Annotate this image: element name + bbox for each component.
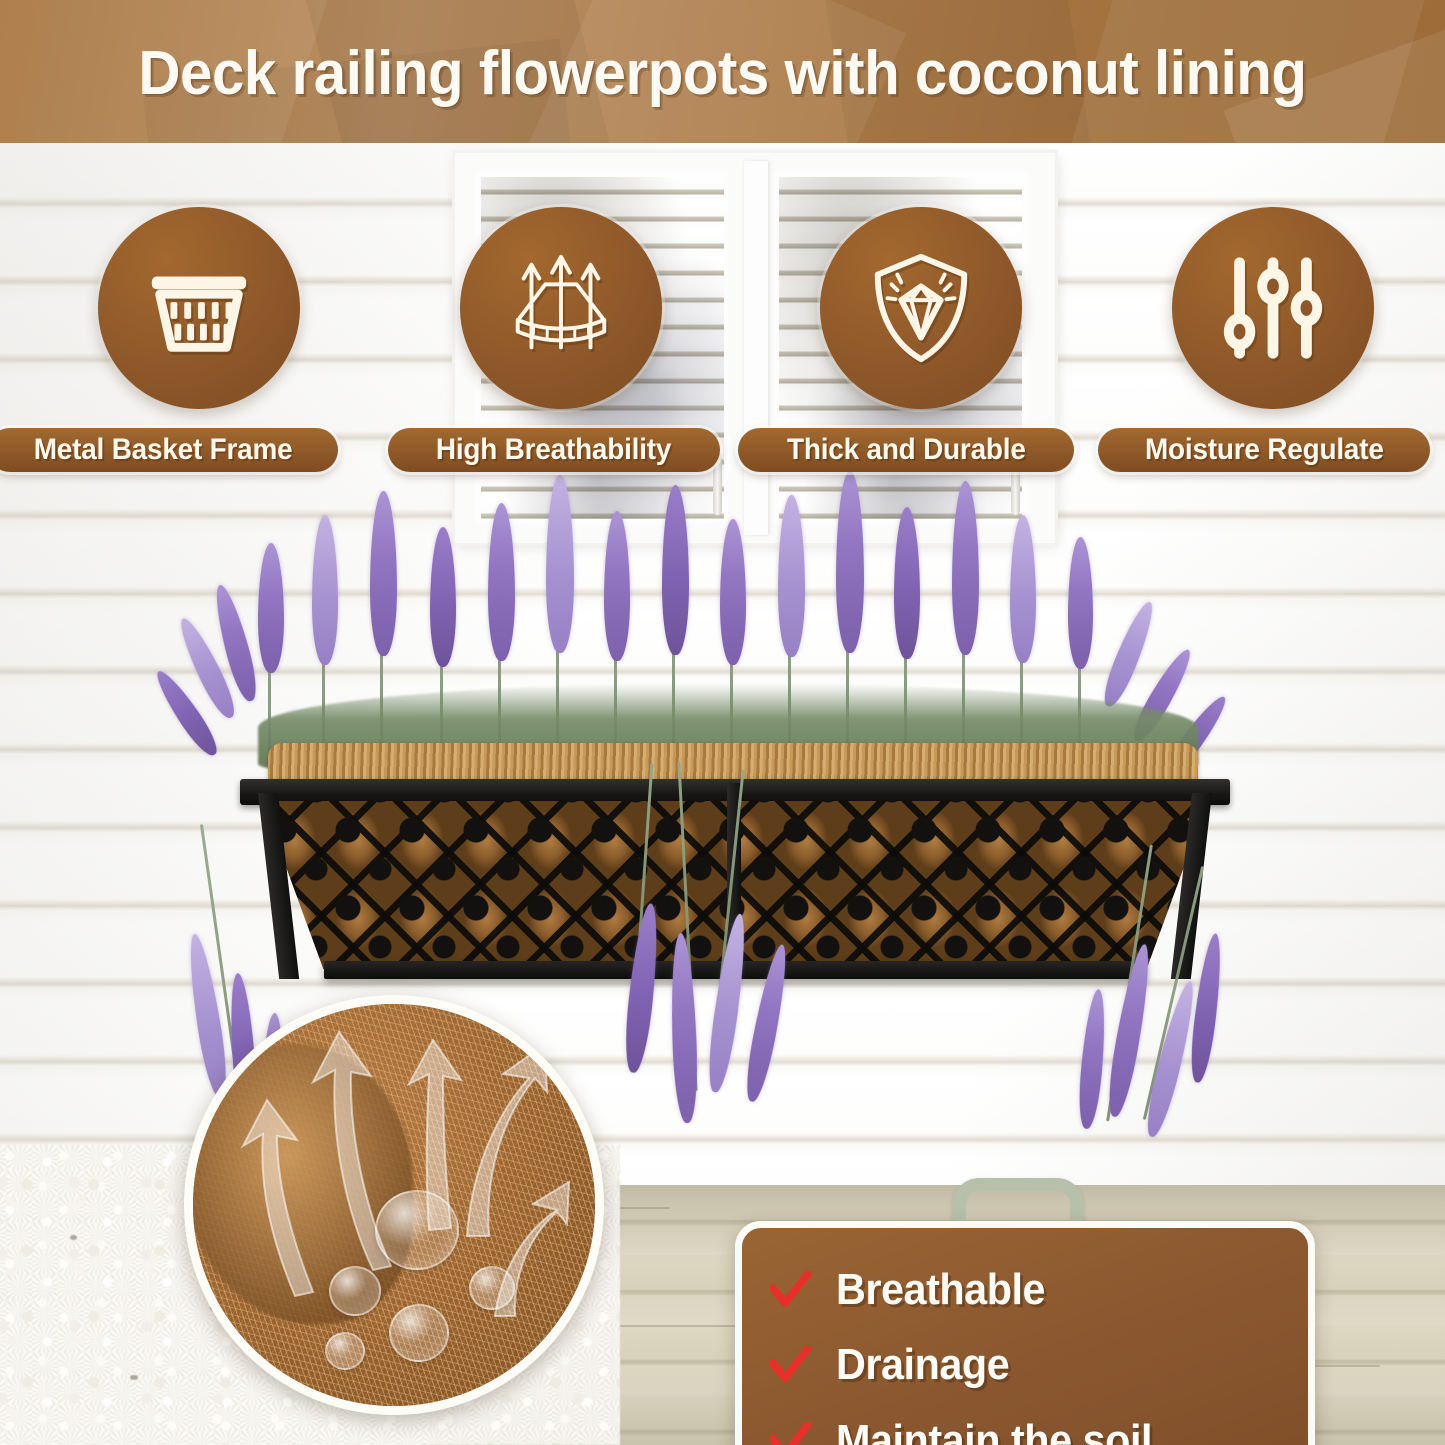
feature-label: Moisture Regulate xyxy=(1145,433,1384,467)
gravel-speck xyxy=(70,1235,77,1240)
deck-railing-planter xyxy=(240,743,1230,973)
feature-label: Metal Basket Frame xyxy=(34,433,293,467)
check-icon xyxy=(770,1271,811,1309)
planter-center-divider xyxy=(727,783,741,975)
water-droplet xyxy=(389,1304,449,1362)
water-droplet xyxy=(469,1266,515,1310)
feature-label: High Breathability xyxy=(436,433,671,467)
page-title: Deck railing flowerpots with coconut lin… xyxy=(43,0,1401,143)
gravel-speck xyxy=(130,1375,138,1380)
feature-badge-circle xyxy=(820,207,1022,409)
water-droplet xyxy=(329,1266,381,1316)
benefit-item: Drainage xyxy=(770,1340,1288,1390)
check-icon xyxy=(770,1346,811,1384)
benefit-label: Drainage xyxy=(836,1340,1009,1390)
check-icon xyxy=(770,1422,811,1445)
breathability-arrows-icon xyxy=(502,249,620,367)
feature-label-pill: Moisture Regulate xyxy=(1098,428,1430,472)
benefits-card: Breathable Drainage Maintain the soil xyxy=(735,1221,1315,1445)
water-droplet xyxy=(325,1332,365,1370)
benefit-label: Breathable xyxy=(836,1265,1045,1315)
feature-label-pill: Thick and Durable xyxy=(738,428,1074,472)
feature-label: Thick and Durable xyxy=(787,433,1026,467)
feature-label-pill: Metal Basket Frame xyxy=(0,428,338,472)
window-mullion xyxy=(744,161,768,535)
feature-badge-circle xyxy=(460,207,662,409)
benefit-item: Breathable xyxy=(770,1265,1288,1315)
benefit-label: Maintain the soil xyxy=(836,1416,1152,1445)
feature-badge-circle xyxy=(1172,207,1374,409)
coconut-coir-closeup xyxy=(184,995,604,1415)
feature-label-pill: High Breathability xyxy=(388,428,720,472)
shield-diamond-icon xyxy=(862,249,980,367)
product-photo-scene: Breathable Drainage Maintain the soil xyxy=(0,143,1445,1445)
header-banner: Deck railing flowerpots with coconut lin… xyxy=(0,0,1445,143)
planter-bottom-rail xyxy=(324,961,1146,979)
basket-icon xyxy=(140,249,258,367)
water-droplet xyxy=(375,1190,459,1270)
benefit-item: Maintain the soil xyxy=(770,1416,1288,1445)
infographic-root: Deck railing flowerpots with coconut lin… xyxy=(0,0,1445,1445)
feature-badge-circle xyxy=(98,207,300,409)
sliders-icon xyxy=(1214,249,1332,367)
